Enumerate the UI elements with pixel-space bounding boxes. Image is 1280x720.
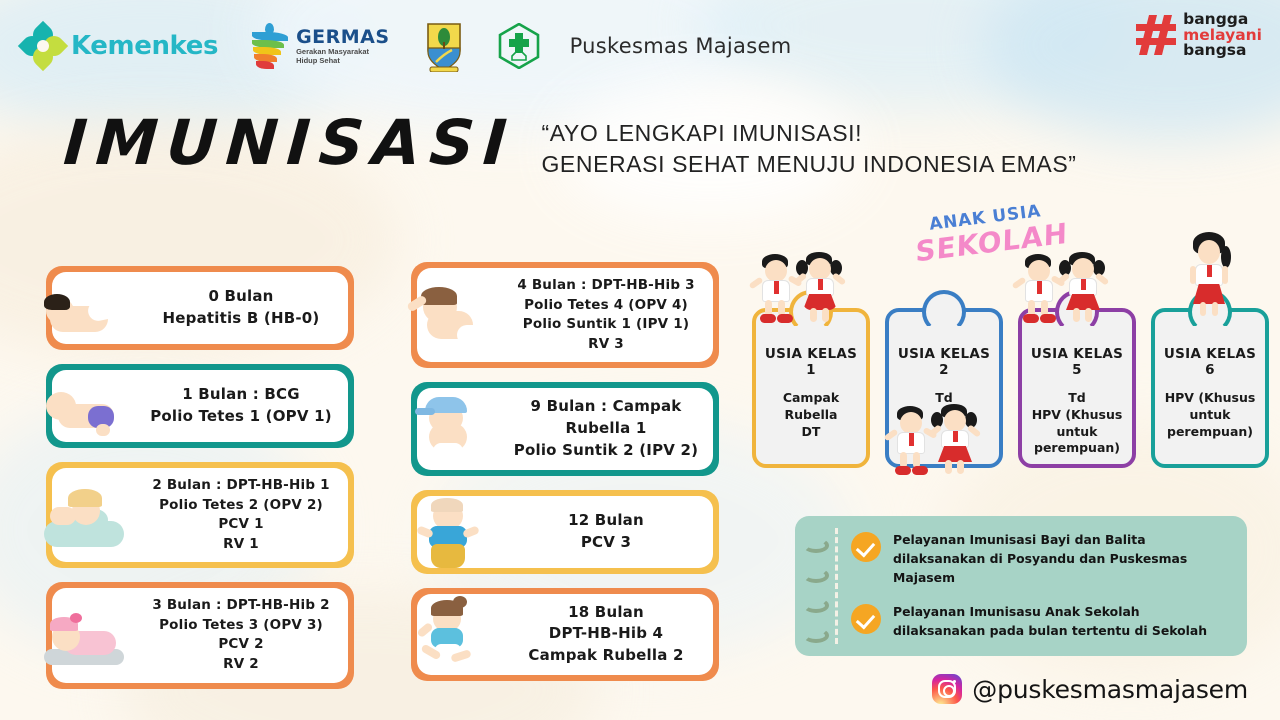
school-card-body-line: untuk [1032, 424, 1123, 441]
schedule-card-line: 3 Bulan : DPT-HB-Hib 2 [148, 596, 334, 616]
schedule-card: 2 Bulan : DPT-HB-Hib 1Polio Tetes 2 (OPV… [46, 462, 354, 568]
schedule-card-text: 18 BulanDPT-HB-Hib 4Campak Rubella 2 [513, 602, 699, 667]
schedule-card-line: 9 Bulan : Campak Rubella 1 [513, 396, 699, 440]
school-card-body: Td [935, 390, 952, 407]
schedule-card-line: 0 Bulan [148, 286, 334, 308]
school-card-body-line: untuk [1165, 407, 1256, 424]
schedule-card-line: Campak Rubella 2 [513, 645, 699, 667]
schedule-card-inner: 4 Bulan : DPT-HB-Hib 3Polio Tetes 4 (OPV… [417, 268, 713, 362]
schedule-mid-column: 4 Bulan : DPT-HB-Hib 3Polio Tetes 4 (OPV… [411, 262, 719, 695]
school-card-body-line: Campak [783, 390, 839, 407]
schedule-card-inner: 9 Bulan : Campak Rubella 1Polio Suntik 2… [417, 388, 713, 469]
schedule-card-inner: 0 BulanHepatitis B (HB-0) [52, 272, 348, 344]
schedule-card-text: 4 Bulan : DPT-HB-Hib 3Polio Tetes 4 (OPV… [513, 276, 699, 354]
school-card-kelas-2: USIA KELAS 2Td [885, 308, 1003, 468]
instagram-handle[interactable]: @puskesmasmajasem [972, 675, 1248, 704]
schedule-card-line: 2 Bulan : DPT-HB-Hib 1 [148, 476, 334, 496]
spiral-binding-icon [795, 516, 835, 656]
check-circle-icon [851, 532, 881, 562]
kota-bandung-seal-icon [424, 20, 464, 72]
school-age-heading: ANAK USIA SEKOLAH [915, 206, 1085, 264]
schedule-card-text: 12 BulanPCV 3 [513, 510, 699, 554]
note-item: Pelayanan Imunisasu Anak Sekolah dilaksa… [851, 603, 1231, 640]
notes-panel: Pelayanan Imunisasi Bayi dan Balita dila… [795, 516, 1247, 656]
schedule-card-line: 4 Bulan : DPT-HB-Hib 3 [513, 276, 699, 296]
notes-list: Pelayanan Imunisasi Bayi dan Balita dila… [835, 519, 1247, 652]
schedule-left-column: 0 BulanHepatitis B (HB-0)1 Bulan : BCGPo… [46, 266, 354, 703]
kemenkes-mark-icon [22, 25, 64, 67]
kemenkes-logo: Kemenkes [22, 25, 218, 67]
note-text: Pelayanan Imunisasu Anak Sekolah dilaksa… [893, 603, 1231, 640]
tagline-line-2: GENERASI SEHAT MENUJU INDONESIA EMAS” [541, 149, 1076, 180]
school-card-kelas-5: USIA KELAS 5TdHPV (Khususuntukperempuan) [1018, 308, 1136, 468]
schedule-card: 9 Bulan : Campak Rubella 1Polio Suntik 2… [411, 382, 719, 475]
school-card-body-line: perempuan) [1032, 440, 1123, 457]
school-card-kelas-1: USIA KELAS 1CampakRubellaDT [752, 308, 870, 468]
school-card-notch [922, 290, 966, 334]
tagline: “AYO LENGKAPI IMUNISASI! GENERASI SEHAT … [541, 118, 1076, 180]
germas-mark-icon [250, 23, 290, 69]
schedule-card: 3 Bulan : DPT-HB-Hib 2Polio Tetes 3 (OPV… [46, 582, 354, 688]
schedule-card-text: 9 Bulan : Campak Rubella 1Polio Suntik 2… [513, 396, 699, 461]
puskesmas-name: Puskesmas Majasem [570, 34, 792, 58]
school-card-body-line: DT [783, 424, 839, 441]
schedule-card-line: Polio Tetes 2 (OPV 2) [148, 496, 334, 516]
schedule-card: 4 Bulan : DPT-HB-Hib 3Polio Tetes 4 (OPV… [411, 262, 719, 368]
note-item: Pelayanan Imunisasi Bayi dan Balita dila… [851, 531, 1231, 587]
school-card-body-line: HPV (Khusus [1032, 407, 1123, 424]
schedule-card-line: Polio Suntik 1 (IPV 1) [513, 315, 699, 335]
schedule-card-inner: 18 BulanDPT-HB-Hib 4Campak Rubella 2 [417, 594, 713, 675]
schedule-card-line: Polio Suntik 2 (IPV 2) [513, 440, 699, 462]
school-card-body: TdHPV (Khususuntukperempuan) [1032, 390, 1123, 457]
school-card-title: USIA KELAS 1 [762, 346, 860, 378]
school-card-title: USIA KELAS 5 [1028, 346, 1126, 378]
hashtag-icon [1135, 13, 1177, 57]
school-card-body-line: Rubella [783, 407, 839, 424]
note-text: Pelayanan Imunisasi Bayi dan Balita dila… [893, 531, 1231, 587]
schedule-card-line: Polio Tetes 1 (OPV 1) [148, 406, 334, 428]
school-card-kelas-6: USIA KELAS 6HPV (Khususuntukperempuan) [1151, 308, 1269, 468]
schedule-card-line: Polio Tetes 3 (OPV 3) [148, 616, 334, 636]
bangga-melayani-bangsa-logo: bangga melayani bangsa [1135, 12, 1262, 59]
schedule-card-inner: 2 Bulan : DPT-HB-Hib 1Polio Tetes 2 (OPV… [52, 468, 348, 562]
school-card-notch [1188, 290, 1232, 334]
schedule-card-line: PCV 2 [148, 635, 334, 655]
school-card-body-line: HPV (Khusus [1165, 390, 1256, 407]
page-title: IMUNISASI [62, 112, 518, 174]
schedule-card-text: 1 Bulan : BCGPolio Tetes 1 (OPV 1) [148, 384, 334, 428]
school-cards-row: USIA KELAS 1CampakRubellaDTUSIA KELAS 2T… [752, 308, 1269, 468]
schedule-card-text: 3 Bulan : DPT-HB-Hib 2Polio Tetes 3 (OPV… [148, 596, 334, 674]
schedule-card-line: Polio Tetes 4 (OPV 4) [513, 296, 699, 316]
puskesmas-hexagon-logo-icon [498, 23, 540, 69]
schedule-card-line: DPT-HB-Hib 4 [513, 623, 699, 645]
check-circle-icon [851, 604, 881, 634]
germas-wordmark: GERMAS [296, 26, 390, 48]
infographic-poster: Kemenkes GERMAS Gerakan Masyarakat Hidup… [0, 0, 1280, 720]
school-card-notch [1055, 290, 1099, 334]
schedule-card-inner: 3 Bulan : DPT-HB-Hib 2Polio Tetes 3 (OPV… [52, 588, 348, 682]
schedule-card: 12 BulanPCV 3 [411, 490, 719, 574]
school-card-title: USIA KELAS 6 [1161, 346, 1259, 378]
schedule-card: 18 BulanDPT-HB-Hib 4Campak Rubella 2 [411, 588, 719, 681]
germas-subtitle-line2: Hidup Sehat [296, 57, 390, 66]
schedule-card-line: RV 3 [513, 335, 699, 355]
schedule-card-line: PCV 3 [513, 532, 699, 554]
tagline-line-1: “AYO LENGKAPI IMUNISASI! [541, 118, 1076, 149]
schedule-card-text: 2 Bulan : DPT-HB-Hib 1Polio Tetes 2 (OPV… [148, 476, 334, 554]
schedule-card-line: 1 Bulan : BCG [148, 384, 334, 406]
instagram-footer[interactable]: @puskesmasmajasem [932, 674, 1248, 704]
bangga-line-3: bangsa [1183, 43, 1262, 59]
schedule-card-text: 0 BulanHepatitis B (HB-0) [148, 286, 334, 330]
schedule-card-inner: 12 BulanPCV 3 [417, 496, 713, 568]
school-card-title: USIA KELAS 2 [895, 346, 993, 378]
schedule-card-line: 12 Bulan [513, 510, 699, 532]
schedule-card: 1 Bulan : BCGPolio Tetes 1 (OPV 1) [46, 364, 354, 448]
title-block: IMUNISASI “AYO LENGKAPI IMUNISASI! GENER… [64, 112, 1077, 180]
schedule-card-inner: 1 Bulan : BCGPolio Tetes 1 (OPV 1) [52, 370, 348, 442]
schedule-card-line: Hepatitis B (HB-0) [148, 308, 334, 330]
notes-dashed-divider [835, 528, 838, 644]
germas-logo: GERMAS Gerakan Masyarakat Hidup Sehat [250, 23, 390, 69]
school-card-body-line: Td [935, 390, 952, 407]
schedule-card-line: RV 1 [148, 535, 334, 555]
school-card-notch [789, 290, 833, 334]
schedule-card-line: 18 Bulan [513, 602, 699, 624]
school-card-body-line: perempuan) [1165, 424, 1256, 441]
schedule-card-line: PCV 1 [148, 515, 334, 535]
instagram-icon[interactable] [932, 674, 962, 704]
school-card-body: HPV (Khususuntukperempuan) [1165, 390, 1256, 440]
school-card-body: CampakRubellaDT [783, 390, 839, 440]
kemenkes-wordmark: Kemenkes [71, 31, 218, 61]
schedule-card-line: RV 2 [148, 655, 334, 675]
header-bar: Kemenkes GERMAS Gerakan Masyarakat Hidup… [0, 0, 1280, 92]
school-card-body-line: Td [1032, 390, 1123, 407]
schedule-card: 0 BulanHepatitis B (HB-0) [46, 266, 354, 350]
